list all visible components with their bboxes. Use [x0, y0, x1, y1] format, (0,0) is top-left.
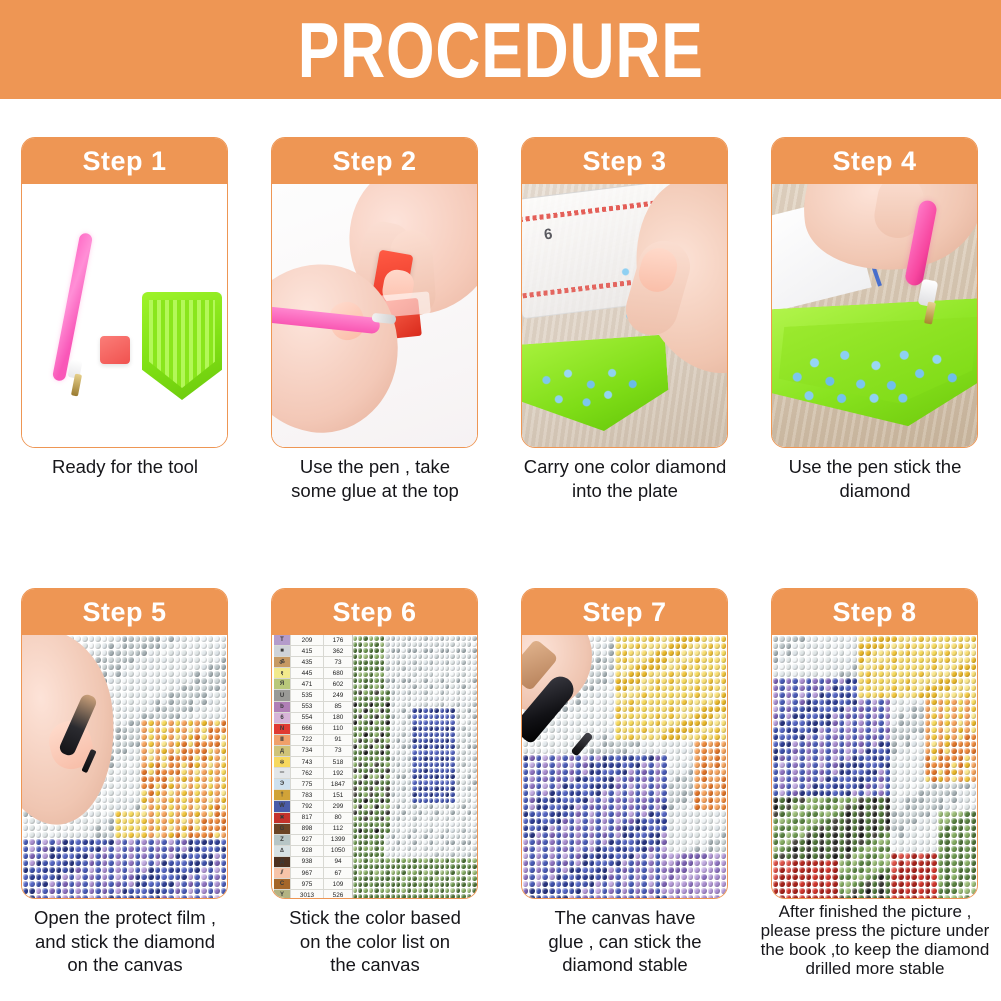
dmc-code-cell: 775 — [291, 779, 324, 789]
step-card-6[interactable]: Step 6 T209176■415362ॐ43573१445680Я47160… — [271, 588, 478, 899]
dmc-code-cell: 415 — [291, 646, 324, 656]
color-list-row: १445680 — [274, 668, 352, 679]
count-cell: 362 — [324, 646, 352, 656]
step-card-2[interactable]: Step 2 — [271, 137, 478, 448]
color-swatch-symbol: ॐ — [274, 657, 291, 667]
count-cell: 73 — [324, 657, 352, 667]
color-swatch-symbol: b — [274, 702, 291, 712]
blue-diamonds — [784, 325, 968, 408]
step-card-5[interactable]: Step 5 — [21, 588, 228, 899]
step-header-1: Step 1 — [22, 138, 227, 184]
color-list-row: ✖81780 — [274, 813, 352, 824]
color-list-row: д73473 — [274, 746, 352, 757]
steps-row-bottom: Step 5 Open the protect film , and stick… — [0, 550, 1001, 1001]
page-title: PROCEDURE — [298, 11, 704, 89]
step-header-6: Step 6 — [272, 589, 477, 635]
count-cell: 1847 — [324, 779, 352, 789]
color-swatch-symbol: Д — [274, 857, 291, 867]
step-header-7: Step 7 — [522, 589, 727, 635]
step-image-3: 6 — [522, 184, 727, 447]
step-caption-6: Stick the color based on the color list … — [254, 906, 496, 977]
step-header-4: Step 4 — [772, 138, 977, 184]
count-cell: 1050 — [324, 846, 352, 856]
color-list-row: †783151 — [274, 790, 352, 801]
mosaic-canvas — [352, 635, 477, 898]
count-cell: 91 — [324, 735, 352, 745]
count-cell: 526 — [324, 890, 352, 898]
color-list-row: Y3013526 — [274, 890, 352, 898]
step-cell-2: Step 2 — [250, 99, 500, 550]
step-image-4 — [772, 184, 977, 447]
dmc-code-cell: 553 — [291, 702, 324, 712]
color-swatch-symbol: ✻ — [274, 757, 291, 767]
dmc-code-cell: 927 — [291, 835, 324, 845]
steps-grid: Step 1 Ready for the tool — [0, 99, 1001, 1001]
color-swatch-symbol: Z — [274, 835, 291, 845]
dmc-code-cell: 3013 — [291, 890, 324, 898]
dmc-code-cell: 445 — [291, 668, 324, 678]
step-image-6: T209176■415362ॐ43573१445680Я471602U53524… — [272, 635, 477, 898]
count-cell: 109 — [324, 879, 352, 889]
step-image-8 — [772, 635, 977, 898]
step-caption-8: After finished the picture , please pres… — [754, 902, 996, 978]
count-cell: 151 — [324, 790, 352, 800]
color-swatch-symbol: १ — [274, 668, 291, 678]
color-list-row: ⫽96767 — [274, 868, 352, 879]
color-swatch-symbol: ═ — [274, 768, 291, 778]
color-swatch-symbol: Ⅱ — [274, 735, 291, 745]
color-swatch-symbol: G — [274, 824, 291, 834]
color-swatch-symbol: T — [274, 635, 291, 645]
step-card-1[interactable]: Step 1 — [21, 137, 228, 448]
dmc-code-cell: 471 — [291, 679, 324, 689]
color-list-row: Я471602 — [274, 679, 352, 690]
step-cell-7: Step 7 The canvas have glue , can stick … — [500, 550, 750, 1001]
mosaic-canvas — [772, 635, 977, 898]
color-list-row: N666110 — [274, 724, 352, 735]
color-swatch-symbol: W — [274, 801, 291, 811]
step-image-7 — [522, 635, 727, 898]
dmc-code-cell: 898 — [291, 824, 324, 834]
step-cell-6: Step 6 T209176■415362ॐ43573१445680Я47160… — [250, 550, 500, 1001]
step-header-5: Step 5 — [22, 589, 227, 635]
step-image-2 — [272, 184, 477, 447]
color-list-row: U535249 — [274, 690, 352, 701]
color-swatch-symbol: N — [274, 724, 291, 734]
color-swatch-symbol: 6 — [274, 713, 291, 723]
step-image-1 — [22, 184, 227, 447]
color-list-table: T209176■415362ॐ43573१445680Я471602U53524… — [274, 635, 353, 898]
step-card-4[interactable]: Step 4 — [771, 137, 978, 448]
step-header-2: Step 2 — [272, 138, 477, 184]
color-list-row: Z9271399 — [274, 835, 352, 846]
color-list-row: b55385 — [274, 702, 352, 713]
step-card-8[interactable]: Step 8 — [771, 588, 978, 899]
page-header-band: PROCEDURE — [0, 0, 1001, 99]
count-cell: 73 — [324, 746, 352, 756]
color-swatch-symbol: ✖ — [274, 813, 291, 823]
count-cell: 299 — [324, 801, 352, 811]
color-list-row: W792299 — [274, 801, 352, 812]
count-cell: 94 — [324, 857, 352, 867]
count-cell: 602 — [324, 679, 352, 689]
step-cell-5: Step 5 Open the protect film , and stick… — [0, 550, 250, 1001]
count-cell: 1399 — [324, 835, 352, 845]
dmc-code-cell: 734 — [291, 746, 324, 756]
color-swatch-symbol: U — [274, 690, 291, 700]
color-swatch-symbol: Э — [274, 779, 291, 789]
dmc-code-cell: 535 — [291, 690, 324, 700]
dmc-code-cell: 975 — [291, 879, 324, 889]
dmc-code-cell: 435 — [291, 657, 324, 667]
color-list-row: ═762192 — [274, 768, 352, 779]
color-swatch-symbol: Y — [274, 890, 291, 898]
glue-square-icon — [100, 336, 130, 364]
step-caption-4: Use the pen stick the diamond — [754, 455, 996, 502]
step-header-3: Step 3 — [522, 138, 727, 184]
color-swatch-symbol: ⫽ — [274, 868, 291, 878]
count-cell: 518 — [324, 757, 352, 767]
dmc-code-cell: 792 — [291, 801, 324, 811]
dmc-code-cell: 783 — [291, 790, 324, 800]
steps-row-top: Step 1 Ready for the tool — [0, 99, 1001, 550]
color-swatch-symbol: ∆ — [274, 846, 291, 856]
step-caption-7: The canvas have glue , can stick the dia… — [504, 906, 746, 977]
color-list-row: ■415362 — [274, 646, 352, 657]
dmc-code-cell: 743 — [291, 757, 324, 767]
dmc-code-cell: 928 — [291, 846, 324, 856]
step-caption-5: Open the protect film , and stick the di… — [4, 906, 246, 977]
step-card-3[interactable]: Step 3 6 — [521, 137, 728, 448]
step-card-7[interactable]: Step 7 — [521, 588, 728, 899]
color-list-row: Э7751847 — [274, 779, 352, 790]
step-cell-8: Step 8 After finished the picture , plea… — [750, 550, 1000, 1001]
count-cell: 85 — [324, 702, 352, 712]
color-list-row: C975109 — [274, 879, 352, 890]
dmc-code-cell: 666 — [291, 724, 324, 734]
step-header-8: Step 8 — [772, 589, 977, 635]
dmc-code-cell: 209 — [291, 635, 324, 645]
step-cell-3: Step 3 6 — [500, 99, 750, 550]
count-cell: 110 — [324, 724, 352, 734]
dmc-code-cell: 722 — [291, 735, 324, 745]
color-list-row: 6554180 — [274, 713, 352, 724]
step-caption-3: Carry one color diamond into the plate — [504, 455, 746, 502]
dmc-code-cell: 554 — [291, 713, 324, 723]
color-list-row: ✻743518 — [274, 757, 352, 768]
color-list-row: Д93894 — [274, 857, 352, 868]
dmc-code-cell: 967 — [291, 868, 324, 878]
count-cell: 80 — [324, 813, 352, 823]
color-list-row: ∆9281050 — [274, 846, 352, 857]
color-swatch-symbol: † — [274, 790, 291, 800]
dmc-code-cell: 938 — [291, 857, 324, 867]
count-cell: 67 — [324, 868, 352, 878]
step-caption-1: Ready for the tool — [4, 455, 246, 479]
dmc-code-cell: 762 — [291, 768, 324, 778]
count-cell: 680 — [324, 668, 352, 678]
color-swatch-symbol: д — [274, 746, 291, 756]
count-cell: 249 — [324, 690, 352, 700]
color-list-row: ॐ43573 — [274, 657, 352, 668]
color-list-row: Ⅱ72291 — [274, 735, 352, 746]
dmc-code-cell: 817 — [291, 813, 324, 823]
diamonds-in-tray — [534, 358, 647, 416]
step-image-5 — [22, 635, 227, 898]
step-cell-1: Step 1 Ready for the tool — [0, 99, 250, 550]
color-list-row: T209176 — [274, 635, 352, 646]
step-caption-2: Use the pen , take some glue at the top — [254, 455, 496, 502]
color-swatch-symbol: ■ — [274, 646, 291, 656]
step-cell-4: Step 4 — [750, 99, 1000, 550]
count-cell: 180 — [324, 713, 352, 723]
count-cell: 176 — [324, 635, 352, 645]
color-list-row: G898112 — [274, 824, 352, 835]
color-swatch-symbol: C — [274, 879, 291, 889]
count-cell: 192 — [324, 768, 352, 778]
count-cell: 112 — [324, 824, 352, 834]
color-swatch-symbol: Я — [274, 679, 291, 689]
